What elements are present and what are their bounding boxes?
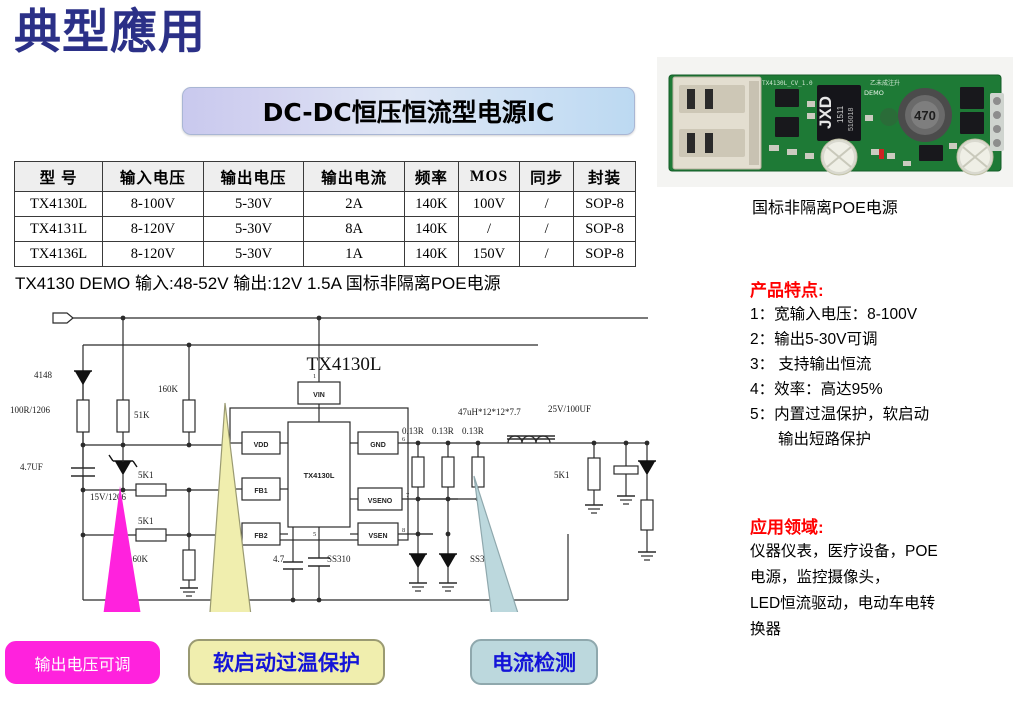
pin-vsen: VSEN [368, 533, 387, 540]
table-row: TX4130L 8-100V 5-30V 2A 140K 100V / SOP-… [15, 192, 636, 217]
table-cell: SOP-8 [574, 217, 636, 242]
svg-text:乙未成注升: 乙未成注升 [870, 79, 900, 87]
table-cell: 5-30V [203, 217, 304, 242]
pcb-photo: TX4130L_CV_1.0 乙未成注升 DEMO JXD 1511 51601… [657, 57, 1013, 187]
table-header-cell: 频率 [404, 162, 458, 192]
table-cell: 5-30V [203, 242, 304, 267]
table-cell: 5-30V [203, 192, 304, 217]
table-header-cell: 型 号 [15, 162, 103, 192]
feature-item: 1：宽输入电压：8-100V [750, 302, 1012, 327]
callout-tail-blue [474, 476, 524, 612]
pcb-silkscreen: TX4130L_CV_1.0 [762, 80, 813, 87]
feature-item: 3： 支持输出恒流 [750, 352, 1012, 377]
table-cell: / [520, 217, 574, 242]
applications-body: 仪器仪表，医疗设备，POE 电源，监控摄像头， LED恒流驱动，电动车电转 换器 [750, 539, 1016, 643]
label-ss310-a: SS310 [327, 554, 351, 564]
pin-gnd: GND [370, 442, 386, 449]
label-47: 4.7 [273, 554, 285, 564]
features-heading: 产品特点: [750, 276, 824, 301]
feature-sub-item: 输出短路保护 [750, 427, 1012, 452]
table-header-row: 型 号 输入电压 输出电压 输出电流 频率 MOS 同步 封装 [15, 162, 636, 192]
table-cell: TX4130L [15, 192, 103, 217]
table-cell: SOP-8 [574, 242, 636, 267]
svg-text:5: 5 [313, 531, 316, 538]
label-100uf: 25V/100UF [548, 404, 591, 414]
table-cell: 140K [404, 242, 458, 267]
application-line: 换器 [750, 617, 1016, 643]
pcb-chip-code-2: 516018 [848, 108, 855, 131]
table-cell: 8-120V [103, 217, 204, 242]
label-100r: 100R/1206 [10, 405, 51, 415]
pcb-chip-label: JXD [816, 96, 835, 129]
pcb-caption: 国标非隔离POE电源 [752, 194, 898, 218]
label-5k1-a: 5K1 [138, 470, 154, 480]
table-cell: SOP-8 [574, 192, 636, 217]
subtitle-banner-text: DC-DC恒压恒流型电源IC [263, 93, 555, 129]
features-list: 1：宽输入电压：8-100V 2：输出5-30V可调 3： 支持输出恒流 4：效… [750, 302, 1012, 452]
subtitle-banner: DC-DC恒压恒流型电源IC [182, 87, 635, 135]
pcb-chip-code-1: 1511 [836, 105, 845, 123]
table-cell: / [520, 192, 574, 217]
pin-vin: VIN [313, 392, 325, 399]
label-5k1-out: 5K1 [554, 470, 570, 480]
table-cell: TX4131L [15, 217, 103, 242]
table-cell: TX4136L [15, 242, 103, 267]
label-013r-2: 0.13R [432, 426, 454, 436]
label-5k1-b: 5K1 [138, 516, 154, 526]
label-4148: 4148 [34, 370, 53, 380]
table-cell: 140K [404, 217, 458, 242]
pin-vdd: VDD [254, 442, 269, 449]
schematic-diagram: 4148 100R/1206 4.7UF 51K 15V/1206 160K 5… [8, 300, 656, 612]
feature-item: 2：输出5-30V可调 [750, 327, 1012, 352]
slide-root: 典型應用 DC-DC恒压恒流型电源IC 型 号 输入电压 输出电压 输出电流 频… [0, 0, 1017, 712]
table-header-cell: 封装 [574, 162, 636, 192]
table-cell: 100V [458, 192, 519, 217]
table-header-cell: 输出电流 [304, 162, 405, 192]
svg-text:7: 7 [406, 492, 410, 499]
table-cell: 1A [304, 242, 405, 267]
table-header-cell: MOS [458, 162, 519, 192]
spec-table: 型 号 输入电压 输出电压 输出电流 频率 MOS 同步 封装 TX4130L … [14, 161, 636, 267]
feature-item: 4：效率：高达95% [750, 377, 1012, 402]
table-row: TX4131L 8-120V 5-30V 8A 140K / / SOP-8 [15, 217, 636, 242]
pin-fb1: FB1 [254, 488, 267, 495]
application-line: LED恒流驱动，电动车电转 [750, 591, 1016, 617]
callout-tail-magenta [100, 486, 145, 612]
pin-vseno: VSENO [368, 498, 393, 505]
table-row: TX4136L 8-120V 5-30V 1A 140K 150V / SOP-… [15, 242, 636, 267]
table-cell: 140K [404, 192, 458, 217]
applications-heading: 应用领域: [750, 513, 824, 538]
page-title: 典型應用 [14, 6, 206, 60]
table-header-cell: 输出电压 [203, 162, 304, 192]
table-cell: 150V [458, 242, 519, 267]
label-51k: 51K [134, 410, 150, 420]
label-160k-top: 160K [158, 384, 179, 394]
application-line: 电源，监控摄像头， [750, 565, 1016, 591]
callout-soft-start-thermal-protection: 软启动过温保护 [188, 639, 385, 685]
table-cell: 2A [304, 192, 405, 217]
label-inductor: 47uH*12*12*7.7 [458, 407, 521, 417]
application-line: 仪器仪表，医疗设备，POE [750, 539, 1016, 565]
schematic-ic-title: TX4130L [307, 354, 382, 375]
ic-body-label: TX4130L [304, 471, 335, 480]
table-header-cell: 同步 [520, 162, 574, 192]
table-cell: 8-100V [103, 192, 204, 217]
label-013r-3: 0.13R [462, 426, 484, 436]
pcb-inductor-label: 470 [914, 108, 936, 123]
callout-current-sense: 电流检测 [470, 639, 598, 685]
demo-caption: TX4130 DEMO 输入:48-52V 输出:12V 1.5A 国标非隔离P… [15, 269, 501, 294]
pin-fb2: FB2 [254, 533, 267, 540]
table-cell: / [458, 217, 519, 242]
table-header-cell: 输入电压 [103, 162, 204, 192]
feature-item: 5：内置过温保护，软启动 [750, 402, 1012, 427]
label-013r-1: 0.13R [402, 426, 424, 436]
svg-text:8: 8 [402, 527, 405, 534]
callout-output-voltage-adjustable: 输出电压可调 [5, 641, 160, 684]
pcb-demo-label: DEMO [864, 89, 884, 97]
label-47uf: 4.7UF [20, 462, 43, 472]
table-cell: 8A [304, 217, 405, 242]
table-cell: / [520, 242, 574, 267]
table-cell: 8-120V [103, 242, 204, 267]
